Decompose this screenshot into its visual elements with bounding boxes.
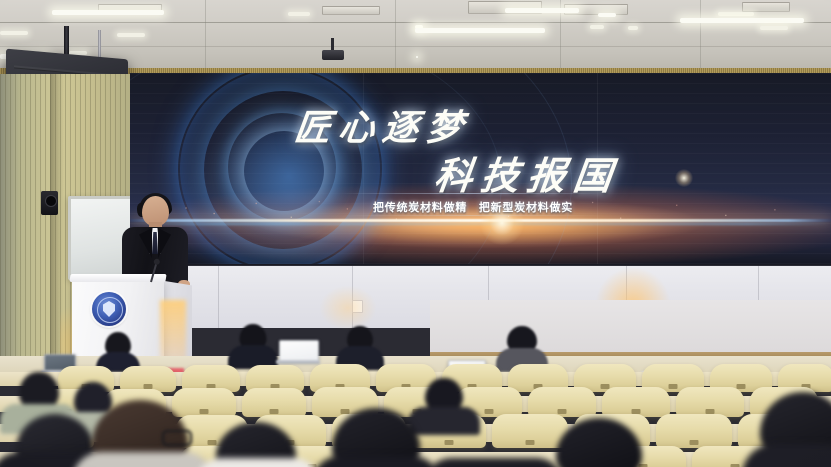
screen-divider: [342, 215, 604, 216]
seat: [676, 387, 744, 417]
attendee: [96, 332, 140, 370]
foreground-attendee-shoulder: [312, 456, 440, 467]
screen-subtitle: 把传统炭材料做精 把新型炭材料做实: [342, 199, 604, 215]
ceiling-light: [680, 18, 804, 23]
projector: [322, 50, 344, 60]
seat: [242, 388, 306, 417]
screen-title-line2: 科技报国: [432, 145, 624, 200]
ceiling-light: [416, 56, 418, 58]
ceiling-light: [598, 13, 616, 17]
foreground-attendee-shoulder: [72, 452, 214, 467]
back-wall: [430, 300, 831, 356]
lens-flare: [675, 169, 693, 187]
ceiling-light: [628, 26, 638, 30]
attendee: [336, 326, 384, 368]
warm-light-spill: [320, 286, 376, 330]
seat: [172, 388, 236, 417]
attendee: [228, 324, 278, 366]
seat: [602, 387, 670, 417]
ceiling-vent: [322, 6, 380, 15]
ceiling-light: [52, 10, 164, 15]
projector-mount-pole: [98, 30, 101, 60]
podium-light-spill: [160, 300, 186, 362]
ceiling-light: [415, 28, 545, 33]
foreground-attendee-shoulder: [424, 458, 564, 467]
seat: [656, 414, 732, 448]
ceiling-light: [117, 33, 145, 37]
institution-emblem-icon: [92, 292, 126, 326]
ceiling-light: [505, 8, 579, 13]
ceiling-light: [760, 26, 788, 30]
ceiling-light: [0, 31, 28, 35]
eyeglasses-icon: [162, 430, 192, 446]
ceiling-light: [288, 12, 310, 16]
led-screen-content: 匠心逐梦 科技报国 把传统炭材料做精 把新型炭材料做实: [130, 73, 831, 268]
laptop: [279, 340, 317, 364]
led-display-screen: 匠心逐梦 科技报国 把传统炭材料做精 把新型炭材料做实: [130, 73, 831, 268]
foreground-attendee-shoulder: [196, 458, 320, 467]
ceiling-light: [590, 25, 604, 29]
ceiling-light: [718, 12, 754, 16]
wall-camera: [41, 191, 58, 215]
screen-title-line1: 匠心逐梦: [292, 99, 474, 151]
lecture-hall-scene: 匠心逐梦 科技报国 把传统炭材料做精 把新型炭材料做实: [0, 0, 831, 467]
ceiling-vent: [742, 2, 790, 12]
seat: [528, 387, 596, 417]
screen-divider: [342, 193, 604, 194]
